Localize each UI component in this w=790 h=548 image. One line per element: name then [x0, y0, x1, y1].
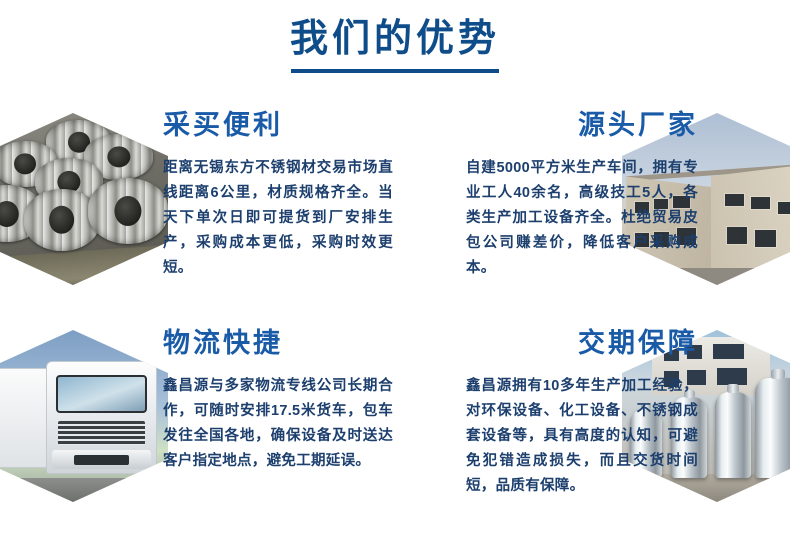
title-underline-divider — [291, 69, 499, 73]
delivery-truck-photo — [0, 330, 168, 502]
feature-body-delivery-guarantee: 鑫昌源拥有10多年生产加工经验，对环保设备、化工设备、不锈钢成套设备等，具有高度… — [466, 374, 698, 499]
feature-body-source-manufacturer: 自建5000平方米生产车间，拥有专业工人40余名，高级技工5人，各类生产加工设备… — [466, 156, 698, 281]
feature-body-purchase-convenience: 距离无锡东方不锈钢材交易市场直线距离6公里，材质规格齐全。当天下单次日即可提货到… — [163, 156, 393, 281]
feature-heading-delivery-guarantee: 交期保障 — [398, 326, 698, 360]
steel-coils-artwork — [0, 113, 168, 285]
page-header: 我们的优势 — [0, 16, 790, 73]
feature-body-fast-logistics: 鑫昌源与多家物流专线公司长期合作，可随时安排17.5米货车，包车发往全国各地，确… — [163, 374, 393, 474]
advantages-page: 我们的优势 — [0, 0, 790, 548]
steel-coils-photo — [0, 113, 168, 285]
feature-block-source-manufacturer: 源头厂家 自建5000平方米生产车间，拥有专业工人40余名，高级技工5人，各类生… — [398, 108, 698, 281]
delivery-truck-artwork — [0, 330, 168, 502]
feature-block-delivery-guarantee: 交期保障 鑫昌源拥有10多年生产加工经验，对环保设备、化工设备、不锈钢成套设备等… — [398, 326, 698, 499]
page-title: 我们的优势 — [0, 16, 790, 62]
feature-heading-source-manufacturer: 源头厂家 — [398, 108, 698, 142]
